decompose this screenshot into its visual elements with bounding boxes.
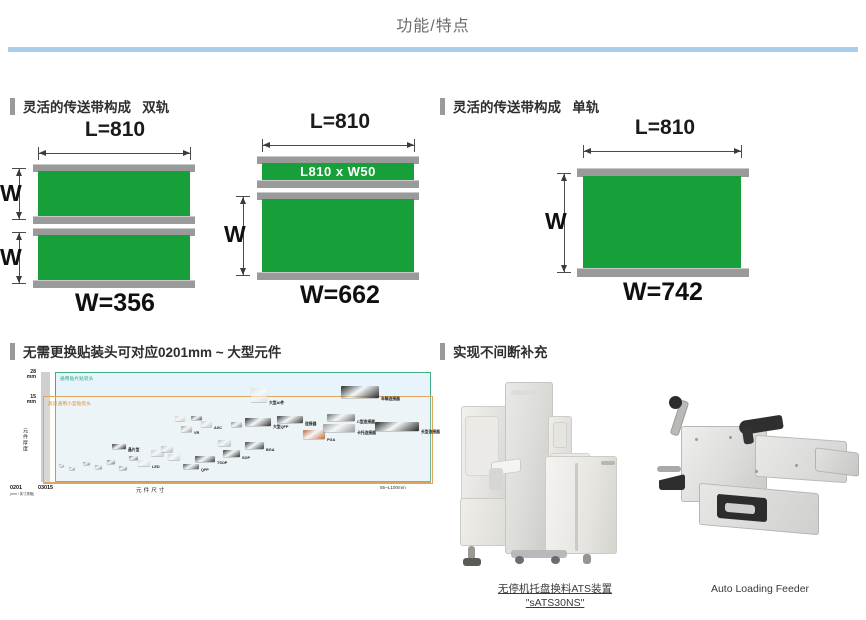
width-arrow-up-1 — [16, 169, 22, 176]
width-tick-742-bottom — [557, 272, 571, 273]
chart-component-连接器: 连接器 — [277, 416, 303, 423]
machine-tower-seam — [511, 390, 541, 395]
chart-x-right-label: 55~L100mm — [380, 485, 406, 490]
feeder-reel-knob — [669, 396, 682, 409]
section-accent-bar-3 — [10, 343, 15, 360]
title-divider — [8, 47, 858, 52]
machine-cabinet-right — [545, 456, 617, 554]
photo-ats-machine — [455, 368, 655, 573]
chart-component-BGA: BGA — [245, 442, 264, 449]
section-header-component-range: 无需更换贴装头可对应0201mm ~ 大型元件 — [10, 341, 281, 361]
pcb-board-upper — [38, 171, 190, 216]
machine-caster-2 — [551, 556, 560, 564]
component-body — [201, 421, 212, 427]
diagram-single-742: L=810 W W=742 — [545, 116, 785, 306]
chart-component-PGA: PGA — [303, 430, 325, 439]
chart-component-LED: LED — [138, 460, 150, 466]
component-label: C型连接器 — [357, 420, 375, 425]
component-body — [251, 388, 267, 402]
chart-component-C型连接器: C型连接器 — [327, 414, 355, 421]
feeder-rivet-1 — [695, 438, 698, 441]
dimension-arrow-left-2 — [263, 142, 270, 148]
chart-component-item-10 — [161, 446, 173, 452]
conveyor-rail-bottom-1 — [33, 216, 195, 224]
dimension-line-horizontal-3 — [583, 151, 741, 152]
component-label: SOP — [242, 456, 250, 460]
section-label-single-rail: 灵活的传送带构成 单轨 — [453, 96, 599, 116]
photo-caption-ats: 无停机托盘换料ATS装置 "sATS30NS" — [455, 582, 655, 610]
width-arrow-up-742 — [561, 174, 567, 181]
section-accent-bar-4 — [440, 343, 445, 360]
dimension-arrow-right-3 — [734, 148, 741, 154]
chart-component-item-15 — [218, 440, 231, 446]
section-accent-bar-2 — [440, 98, 445, 115]
component-label: 长型连接器 — [421, 430, 440, 435]
machine-leg-right — [583, 554, 591, 564]
width-arrow-down-742 — [561, 265, 567, 272]
component-label: AXC — [214, 426, 222, 430]
chart-y-tick-28mm: 28 mm — [10, 370, 36, 381]
component-body — [218, 440, 231, 446]
conveyor-rail-single-bottom — [577, 268, 749, 277]
component-body — [183, 464, 199, 469]
component-body — [83, 462, 90, 465]
section-label-continuous-supply: 实现不间断补充 — [453, 341, 548, 361]
conveyor-rail-wide-bottom — [257, 272, 419, 280]
component-label: 晶片型 — [128, 448, 139, 453]
component-body — [195, 456, 215, 462]
chart-component-晶片型: 晶片型 — [112, 444, 126, 449]
width-label-742: W — [545, 210, 567, 233]
section-header-single-rail: 灵活的传送带构成 单轨 — [440, 96, 599, 116]
dimension-arrow-right-2 — [407, 142, 414, 148]
component-body — [138, 460, 150, 466]
component-body — [327, 414, 355, 421]
chart-component-item-0 — [59, 464, 64, 467]
total-width-label-356: W=356 — [20, 289, 210, 318]
chart-component-item-4 — [107, 460, 115, 464]
component-body — [231, 422, 242, 427]
chart-component-item-6 — [129, 456, 138, 460]
component-body — [161, 446, 173, 452]
section-accent-bar — [10, 98, 15, 115]
pcb-board-single — [583, 176, 741, 268]
pcb-board-lower — [38, 235, 190, 280]
component-body — [323, 424, 355, 432]
component-body — [303, 430, 325, 439]
component-label: PGA — [327, 438, 335, 442]
dimension-label-length: L=810 — [30, 118, 200, 142]
component-label: 车辆连接器 — [381, 397, 400, 402]
component-label: BGA — [266, 448, 274, 452]
component-body — [375, 422, 419, 431]
width-tick-upper-bottom — [12, 219, 26, 220]
section-label-component-range: 无需更换贴装头可对应0201mm ~ 大型元件 — [23, 341, 281, 361]
chart-component-item-19 — [175, 416, 185, 421]
chart-component-QFP: QFP — [183, 464, 199, 469]
chart-x-axis-line — [43, 482, 431, 483]
component-body — [175, 416, 185, 421]
dimension-line-horizontal-2 — [262, 145, 414, 146]
component-body — [69, 467, 75, 470]
component-body — [107, 460, 115, 464]
width-tick-lower-bottom — [12, 283, 26, 284]
component-body — [245, 442, 264, 449]
chart-component-TSOP: TSOP — [195, 456, 215, 462]
chart-component-item-5 — [119, 466, 127, 470]
machine-base-left — [460, 498, 510, 546]
dimension-line-horizontal — [38, 153, 190, 154]
conveyor-rail-narrow-bottom — [257, 180, 419, 188]
section-header-continuous-supply: 实现不间断补充 — [440, 341, 548, 361]
width-arrow-down-1 — [16, 212, 22, 219]
dimension-label-length-2: L=810 — [255, 110, 425, 134]
component-label: QFP — [201, 468, 209, 472]
dimension-tick-right-2 — [414, 139, 415, 152]
dimension-arrow-left-3 — [584, 148, 591, 154]
component-body — [181, 426, 192, 432]
width-arrow-up-2 — [16, 233, 22, 240]
chart-component-大型QFP: 大型QFP — [245, 418, 271, 426]
machine-arm-support — [489, 468, 503, 490]
component-body — [341, 386, 379, 398]
width-arrow-down-2 — [16, 276, 22, 283]
component-body — [277, 416, 303, 423]
page-title: 功能/特点 — [0, 12, 866, 36]
section-header-dual-rail: 灵活的传送带构成 双轨 — [10, 96, 169, 116]
section-label-dual-rail: 灵活的传送带构成 双轨 — [23, 96, 169, 116]
page-root: 功能/特点 灵活的传送带构成 双轨 L=810 W — [0, 0, 866, 620]
component-label: 大型QFP — [273, 425, 288, 430]
component-label: 卡托连接器 — [357, 431, 376, 436]
pcb-board-wide — [262, 199, 414, 272]
component-range-chart: 通用贴片贴装头 高速通用小型贴装头 28 mm 15 mm 元件厚度 0201 … — [8, 368, 436, 496]
dimension-label-length-3: L=810 — [575, 116, 755, 140]
machine-door-seam — [575, 463, 578, 551]
width-label-lower: W — [0, 246, 22, 269]
component-body — [223, 450, 240, 457]
width-label-upper: W — [0, 182, 22, 205]
component-label: TSOP — [217, 461, 227, 465]
total-width-label-742: W=742 — [565, 278, 761, 307]
machine-handle-right — [601, 461, 615, 465]
chart-component-AXC: AXC — [201, 421, 212, 427]
chart-y-tick-15mm: 15 mm — [10, 395, 36, 406]
diagram-dual-662: L=810 L810 x W50 W W=662 — [240, 110, 440, 305]
chart-component-item-21 — [231, 422, 242, 427]
component-label: LED — [152, 465, 160, 469]
component-label: 大型AI件 — [269, 401, 284, 406]
chart-x-axis-title: 元件尺寸 — [136, 486, 166, 494]
photo-caption-feeder: Auto Loading Feeder — [660, 582, 860, 596]
feeder-rivet-4 — [795, 464, 798, 467]
chart-component-item-11 — [168, 454, 180, 460]
chart-x-tick-03015: 03015 — [38, 485, 53, 491]
chart-y-axis-title: 元件厚度 — [22, 428, 29, 452]
chart-points-layer: 晶片型LEDQFPTSOPSOPBGAVRAXC大型QFP连接器PGAC型连接器… — [55, 372, 429, 480]
component-body — [119, 466, 127, 470]
chart-x-tick-sub: (mm / 英寸规格) — [10, 491, 34, 496]
dimension-arrow-left — [39, 150, 46, 156]
component-body — [168, 454, 180, 460]
component-body — [112, 444, 126, 449]
pcb-board-narrow-caption: L810 x W50 — [262, 163, 414, 180]
component-label: 连接器 — [305, 422, 316, 427]
chart-component-item-20 — [191, 416, 202, 420]
dimension-arrow-right — [183, 150, 190, 156]
width-label-662: W — [224, 223, 246, 246]
dimension-tick-right-3 — [741, 145, 742, 158]
machine-caster-1 — [515, 556, 524, 564]
feeder-tape-guide — [659, 474, 685, 490]
chart-component-长型连接器: 长型连接器 — [375, 422, 419, 431]
width-arrow-down-662 — [240, 268, 246, 275]
chart-component-VR: VR — [181, 426, 192, 432]
width-tick-662-bottom — [236, 275, 250, 276]
chart-component-大型AI件: 大型AI件 — [251, 388, 267, 402]
machine-foot-left-1 — [463, 558, 481, 566]
chart-component-卡托连接器: 卡托连接器 — [323, 424, 355, 432]
feeder-tape-slot — [657, 466, 681, 472]
chart-component-SOP: SOP — [223, 450, 240, 457]
component-label: VR — [194, 431, 199, 435]
component-body — [129, 456, 138, 460]
chart-component-车辆连接器: 车辆连接器 — [341, 386, 379, 398]
dimension-tick-right — [190, 147, 191, 160]
component-body — [59, 464, 64, 467]
photo-auto-loading-feeder — [655, 378, 860, 568]
conveyor-rail-bottom-2 — [33, 280, 195, 288]
feeder-rivet-3 — [755, 470, 758, 473]
component-body — [95, 465, 102, 469]
component-body — [191, 416, 202, 420]
chart-component-item-2 — [83, 462, 90, 465]
diagram-dual-356: L=810 W W W=356 — [0, 118, 220, 303]
feeder-rivet-2 — [729, 436, 732, 439]
width-arrow-up-662 — [240, 197, 246, 204]
total-width-label-662: W=662 — [245, 281, 435, 310]
component-body — [245, 418, 271, 426]
chart-component-item-1 — [69, 467, 75, 470]
machine-module-vent — [553, 422, 567, 448]
chart-component-item-3 — [95, 465, 102, 469]
